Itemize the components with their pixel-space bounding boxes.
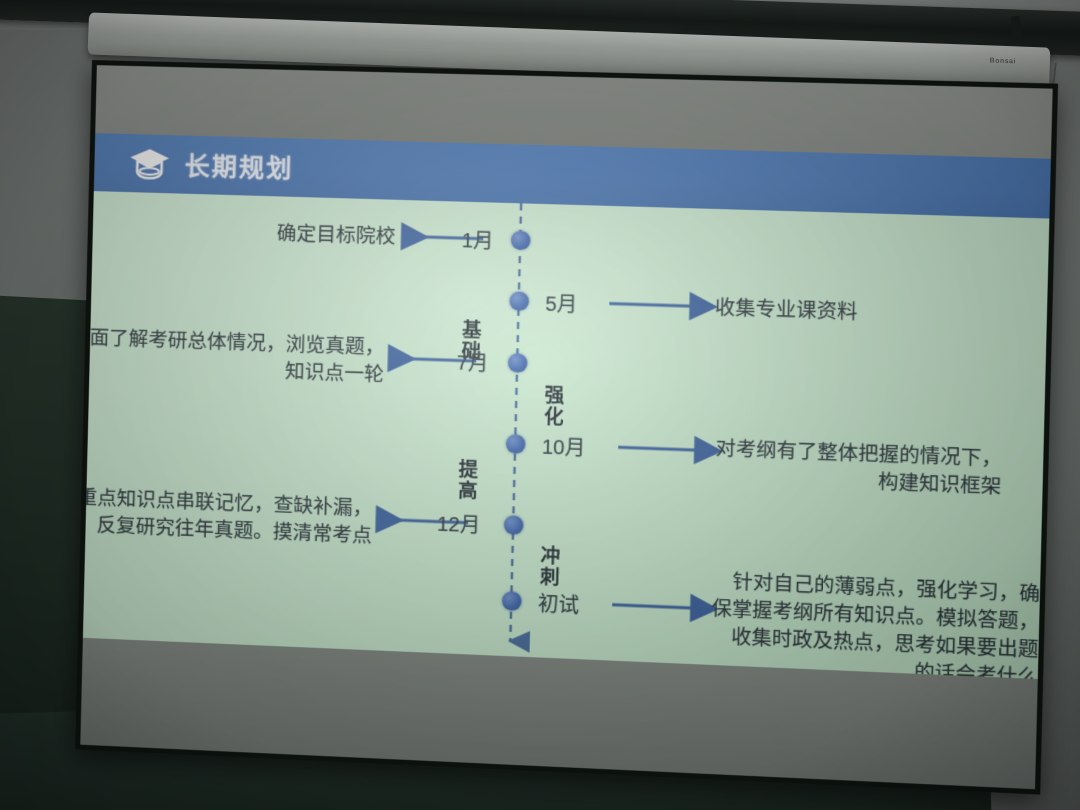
timeline-month-label: 5月 (545, 287, 578, 317)
timeline-phase-label: 提高 (456, 461, 480, 503)
projector-screen-surface: 长期规划 (80, 65, 1052, 789)
timeline-month-label: 12月 (437, 507, 481, 538)
projector-screen-frame: 长期规划 (75, 60, 1058, 795)
timeline-month-label: 初试 (538, 587, 580, 618)
timeline-description: 确定目标院校 (276, 221, 395, 252)
timeline-description: 全面了解考研总体情况，浏览真题， 知识点一轮 (83, 324, 385, 389)
presentation-slide: 长期规划 (83, 133, 1053, 679)
roller-brand-label: Bonsai (989, 57, 1016, 65)
timeline-month-label: 10月 (542, 430, 586, 461)
timeline-node-dot[interactable] (510, 230, 530, 250)
timeline-node-dot[interactable] (505, 434, 525, 454)
timeline-description: 收集专业课资料 (715, 295, 858, 327)
timeline-canvas: 1月 确定目标院校 5月 基础 收集专业课资料 7月 强化 全面了解考研总体情况… (83, 191, 1052, 679)
timeline-phase-label: 强化 (542, 387, 566, 429)
timeline-month-label: 7月 (456, 346, 489, 376)
graduation-cap-icon (128, 146, 171, 181)
timeline-description: 针对自己的薄弱点，强化学习，确 保掌握考纲所有知识点。模拟答题， 收集时政及热点… (710, 568, 1040, 679)
slide-title: 长期规划 (184, 147, 294, 186)
timeline-node-dot[interactable] (507, 353, 527, 373)
timeline-node-dot[interactable] (503, 515, 523, 535)
timeline-node-dot[interactable] (509, 291, 529, 311)
timeline-node-dot[interactable] (501, 591, 521, 611)
timeline-phase-label: 冲刺 (538, 547, 562, 590)
timeline-month-label: 1月 (461, 223, 494, 253)
timeline-description: 对考纲有了整体把握的情况下， 构建知识框架 (715, 436, 1003, 502)
screenshot-stage: Bonsai 长期规划 (0, 0, 1080, 810)
